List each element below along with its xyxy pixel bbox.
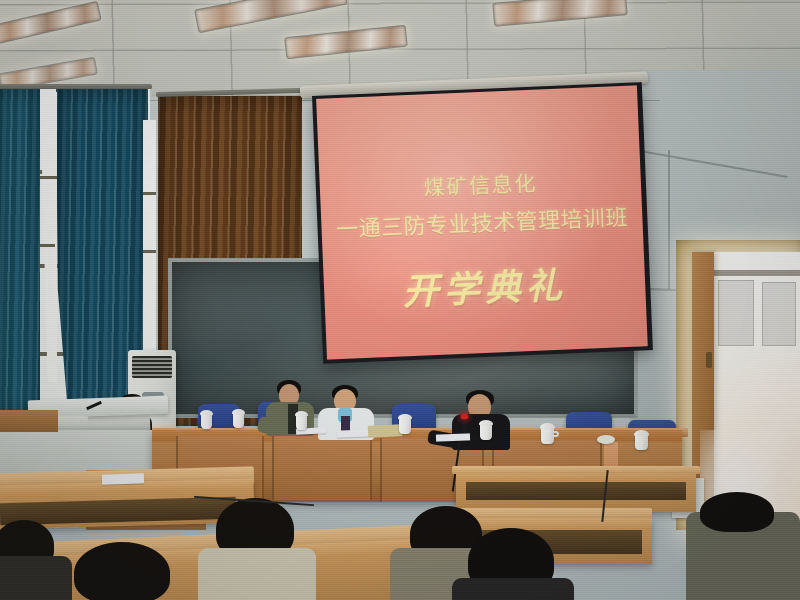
audience-3-torso xyxy=(452,578,574,600)
teacup-1 xyxy=(201,414,212,429)
saucer-1 xyxy=(597,435,615,444)
window-mullion-7 xyxy=(143,250,156,253)
slide-title-line-1: 煤矿信息化 xyxy=(319,163,641,206)
corridor-notice-board-2 xyxy=(762,282,796,346)
window-mullion-6 xyxy=(143,192,156,195)
audience-4-head xyxy=(74,542,170,600)
teacup-5 xyxy=(480,424,492,440)
curtain-blue-left xyxy=(0,86,40,422)
audience-desk-back-right-shelf xyxy=(466,482,686,500)
projection-screen: 煤矿信息化 一通三防专业技术管理培训班 开学典礼 xyxy=(312,82,653,364)
curtain-rod-blue xyxy=(0,84,152,89)
teacup-6-lid xyxy=(540,423,555,430)
corridor-notice-board-1 xyxy=(718,280,754,346)
teacup-3-lid xyxy=(295,411,308,417)
teacup-4 xyxy=(399,418,411,434)
teacup-4-lid xyxy=(398,414,412,420)
photo-scene: 煤矿信息化 一通三防专业技术管理培训班 开学典礼 xyxy=(0,0,800,600)
head-table-panel-2 xyxy=(272,436,372,500)
teacup-7-lid xyxy=(634,430,649,437)
teacup-3 xyxy=(296,415,307,430)
teacup-6-handle xyxy=(553,431,559,437)
microphone-indicator-icon xyxy=(461,414,468,419)
audience-1-torso xyxy=(198,548,316,600)
teacup-5-lid xyxy=(479,420,493,426)
audience-desk-back-right-top xyxy=(452,466,700,474)
audience-paper-1 xyxy=(102,473,144,484)
audience-6-torso xyxy=(0,556,72,600)
air-conditioner-grille-icon xyxy=(132,356,172,378)
wall-conduit-3 xyxy=(668,150,670,290)
document-3 xyxy=(436,433,470,441)
window-mullion-5 xyxy=(40,244,55,247)
corridor-header-bar xyxy=(714,270,800,276)
teacup-2-lid xyxy=(232,409,245,415)
teacup-2 xyxy=(233,413,244,428)
side-cabinet xyxy=(0,410,58,432)
projection-screen-surface: 煤矿信息化 一通三防专业技术管理培训班 开学典礼 xyxy=(316,85,648,359)
window-light-gap-2 xyxy=(143,120,156,360)
teacup-1-lid xyxy=(200,410,213,416)
slide-main-heading: 开学典礼 xyxy=(323,253,646,318)
door-handle-icon[interactable] xyxy=(706,352,712,368)
window-mullion-4 xyxy=(40,176,57,179)
audience-5-head xyxy=(700,492,774,532)
folder-1 xyxy=(368,424,403,438)
slide-title-line-2: 一通三防专业技术管理培训班 xyxy=(321,199,643,244)
